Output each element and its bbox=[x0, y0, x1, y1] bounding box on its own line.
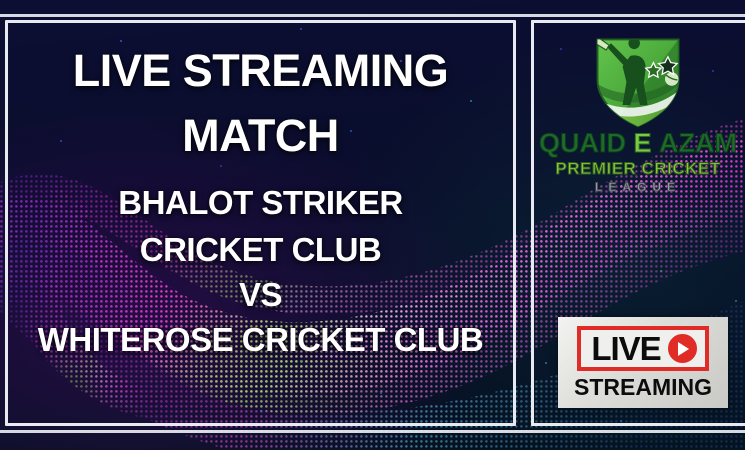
logo-title-quaid: QUAID bbox=[539, 128, 626, 158]
logo-subtitle: PREMIER CRICKET bbox=[555, 160, 720, 177]
team-a-name-line2: CRICKET CLUB bbox=[140, 233, 381, 266]
logo-title-e: E bbox=[634, 128, 652, 158]
top-divider-rule bbox=[0, 14, 745, 17]
headline-live-streaming: LIVE STREAMING bbox=[73, 48, 449, 93]
logo-title-azam: AZAM bbox=[659, 128, 737, 158]
announcement-text-block: LIVE STREAMING MATCH BHALOT STRIKER CRIC… bbox=[5, 20, 516, 426]
versus-label: VS bbox=[239, 278, 282, 311]
bottom-divider-rule bbox=[0, 430, 745, 433]
cricket-shield-icon bbox=[579, 24, 697, 132]
logo-title: QUAID E AZAM bbox=[539, 130, 737, 157]
league-logo: QUAID E AZAM PREMIER CRICKET LEAGUE bbox=[531, 24, 745, 204]
streaming-badge-label: STREAMING bbox=[574, 376, 712, 399]
live-badge-label: LIVE bbox=[591, 332, 660, 365]
logo-tagline: LEAGUE bbox=[595, 181, 681, 193]
play-triangle-icon[interactable] bbox=[668, 334, 697, 363]
live-streaming-poster: LIVE STREAMING MATCH BHALOT STRIKER CRIC… bbox=[0, 0, 745, 450]
live-badge-box: LIVE bbox=[577, 326, 708, 371]
team-a-name-line1: BHALOT STRIKER bbox=[118, 186, 403, 219]
live-streaming-badge[interactable]: LIVE STREAMING bbox=[558, 317, 728, 408]
team-b-name: WHITEROSE CRICKET CLUB bbox=[38, 323, 484, 356]
headline-match: MATCH bbox=[182, 113, 339, 158]
